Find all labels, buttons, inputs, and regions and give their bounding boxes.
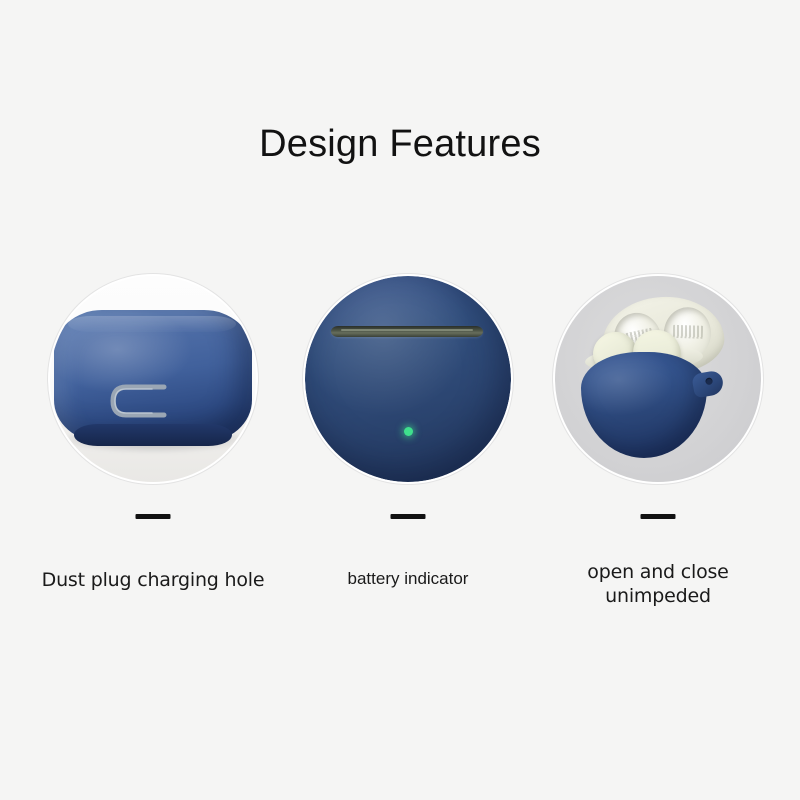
open-case-earbuds-photo [555,276,761,482]
feature-item-dust-plug: Dust plug charging hole [23,276,283,636]
case-front-face [305,276,511,482]
photo-artwork [305,276,511,482]
caption-dash [136,514,171,519]
photo-artwork [50,276,256,482]
battery-led-indicator [404,427,413,436]
case-body [54,310,252,442]
feature-caption-open-close: open and close unimpeded [528,560,788,609]
socket-emboss-text [673,325,703,339]
case-lid-seam [68,316,236,332]
feature-caption-dust-plug: Dust plug charging hole [23,568,283,592]
feature-caption-battery-indicator: battery indicator [278,568,538,590]
closed-case-dust-plug-photo [50,276,256,482]
features-row: Dust plug charging hole battery indicato… [0,276,800,636]
photo-artwork [555,276,761,482]
case-lid-slot [331,326,483,337]
page-title: Design Features [0,124,800,166]
feature-item-open-close: open and close unimpeded [528,276,788,636]
case-base [74,424,232,446]
case-front-battery-led-photo [305,276,511,482]
caption-dash [641,514,676,519]
caption-dash [391,514,426,519]
dust-plug-icon [106,382,170,420]
feature-item-battery-indicator: battery indicator [278,276,538,636]
